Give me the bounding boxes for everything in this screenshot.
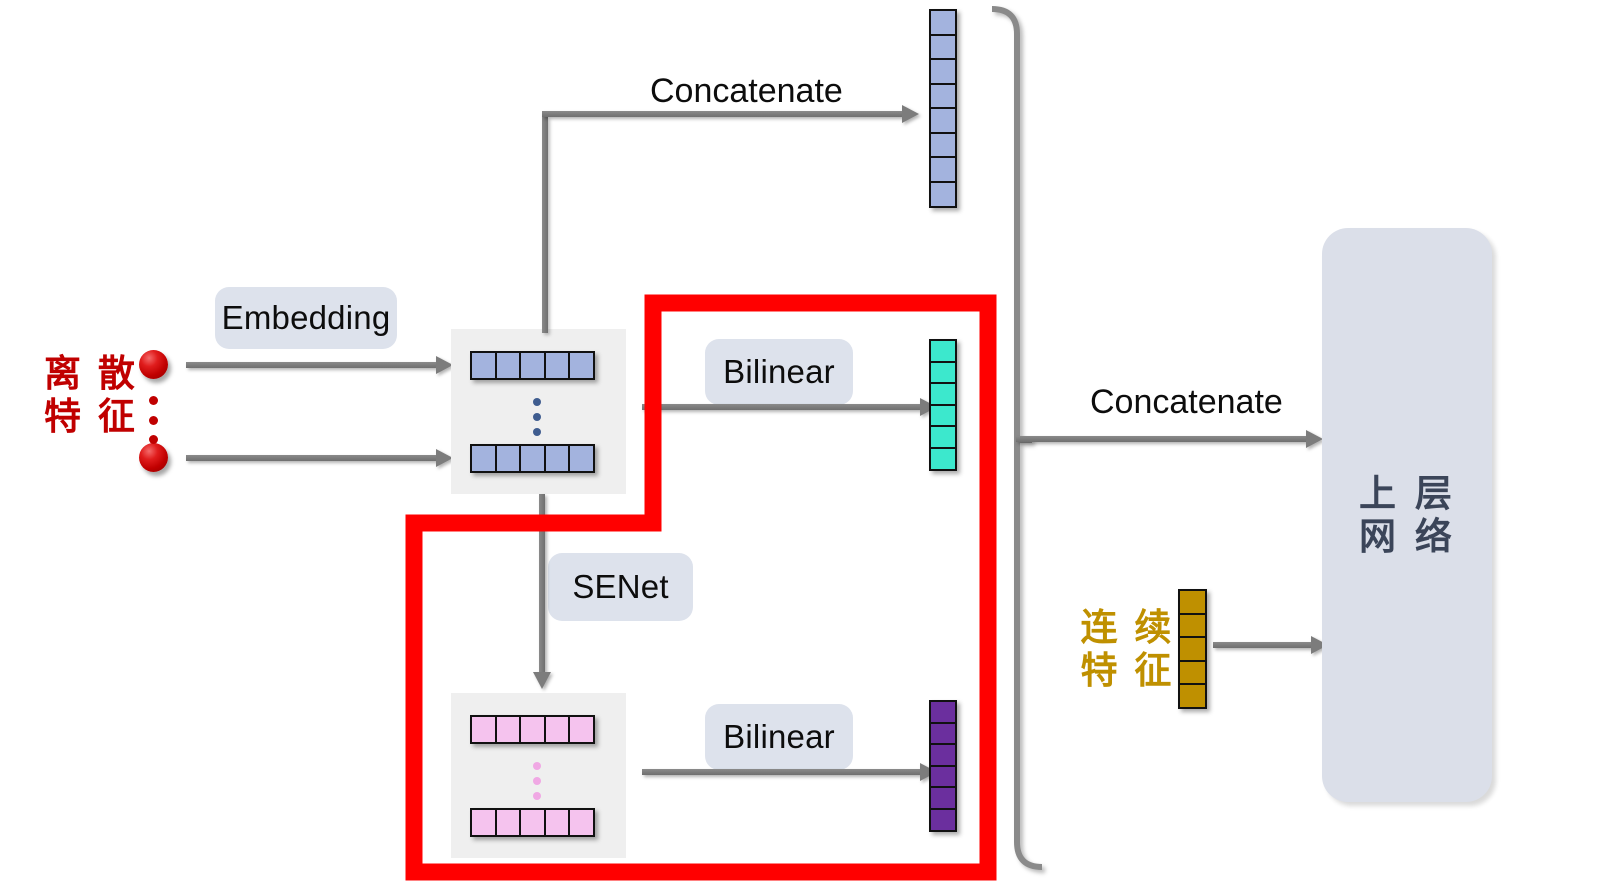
arrow-embedding-to-senet bbox=[531, 494, 557, 690]
bilinear-top-cell bbox=[929, 382, 957, 406]
bilinear-top-label-text: Bilinear bbox=[723, 353, 835, 391]
embedding-cell bbox=[495, 444, 522, 473]
bilinear-bottom-label-text: Bilinear bbox=[723, 718, 835, 756]
concat-top-cell bbox=[929, 58, 957, 85]
arrow-senet-to-bilinear-bottom bbox=[642, 763, 937, 781]
senet-cell bbox=[544, 808, 571, 837]
embedding-cell bbox=[544, 444, 571, 473]
senet-label-chip: SENet bbox=[548, 553, 693, 621]
embedding-cell bbox=[568, 351, 595, 380]
senet-cell bbox=[495, 715, 522, 744]
embedding-cell bbox=[470, 444, 497, 473]
dense-cell bbox=[1178, 660, 1207, 686]
concat-top-cell bbox=[929, 9, 957, 36]
senet-row-top bbox=[470, 715, 595, 744]
bilinear-bottom-vector bbox=[929, 700, 957, 832]
discrete-feature-label: 离 散 特 征 bbox=[38, 352, 143, 437]
senet-cell bbox=[519, 808, 546, 837]
embedding-label-text: Embedding bbox=[222, 299, 391, 337]
bilinear-bottom-cell bbox=[929, 765, 957, 789]
concat-top-vector bbox=[929, 9, 957, 208]
arrow-input-to-embedding-top bbox=[186, 356, 454, 374]
concat-top-cell bbox=[929, 107, 957, 134]
dense-cell bbox=[1178, 613, 1207, 639]
senet-cell bbox=[568, 808, 595, 837]
bilinear-top-vector bbox=[929, 339, 957, 471]
concat-top-cell bbox=[929, 132, 957, 159]
bilinear-bottom-cell bbox=[929, 743, 957, 767]
embedding-row-bottom bbox=[470, 444, 595, 473]
discrete-feature-ellipsis bbox=[146, 396, 161, 444]
senet-cell bbox=[495, 808, 522, 837]
concat-top-cell bbox=[929, 181, 957, 208]
arrow-dense-to-network bbox=[1213, 636, 1333, 654]
senet-cell bbox=[544, 715, 571, 744]
bilinear-top-cell bbox=[929, 425, 957, 449]
arrow-input-to-embedding-bottom bbox=[186, 449, 454, 467]
bilinear-top-cell bbox=[929, 404, 957, 428]
senet-cell bbox=[568, 715, 595, 744]
concat-top-cell bbox=[929, 83, 957, 110]
bilinear-bottom-cell bbox=[929, 786, 957, 810]
senet-cell bbox=[519, 715, 546, 744]
arrow-embedding-to-bilinear-top bbox=[642, 398, 937, 416]
embedding-cell bbox=[544, 351, 571, 380]
bilinear-top-cell bbox=[929, 361, 957, 385]
embedding-cell bbox=[495, 351, 522, 380]
senet-row-bottom bbox=[470, 808, 595, 837]
embedding-cell bbox=[519, 444, 546, 473]
dense-cell bbox=[1178, 589, 1207, 615]
dense-feature-vector bbox=[1178, 589, 1207, 709]
dense-cell bbox=[1178, 683, 1207, 709]
concatenate-right-label: Concatenate bbox=[1090, 383, 1283, 422]
embedding-row-top bbox=[470, 351, 595, 380]
senet-label-text: SENet bbox=[572, 568, 668, 606]
dense-cell bbox=[1178, 636, 1207, 662]
senet-cell bbox=[470, 808, 497, 837]
arrow-concatenate-to-network bbox=[1016, 430, 1326, 448]
embedding-cell bbox=[568, 444, 595, 473]
embedding-ellipsis bbox=[531, 398, 543, 436]
embedding-cell bbox=[470, 351, 497, 380]
bilinear-bottom-cell bbox=[929, 808, 957, 832]
concat-top-cell bbox=[929, 34, 957, 61]
discrete-feature-node-bottom bbox=[139, 443, 168, 472]
diagram-canvas: 离 散 特 征 Embedding bbox=[0, 0, 1597, 892]
bilinear-bottom-cell bbox=[929, 722, 957, 746]
concatenate-top-label: Concatenate bbox=[650, 72, 843, 111]
embedding-cell bbox=[519, 351, 546, 380]
continuous-feature-label: 连 续 特 征 bbox=[1072, 606, 1182, 691]
arrow-concatenate-top bbox=[542, 111, 922, 129]
bilinear-top-label-chip: Bilinear bbox=[705, 339, 853, 405]
senet-ellipsis bbox=[531, 762, 543, 800]
embedding-label-chip: Embedding bbox=[215, 287, 397, 349]
upper-network-label: 上 层 网 络 bbox=[1359, 472, 1455, 557]
bilinear-bottom-cell bbox=[929, 700, 957, 724]
connector-embedding-up bbox=[542, 117, 548, 333]
bilinear-bottom-label-chip: Bilinear bbox=[705, 704, 853, 770]
bilinear-top-cell bbox=[929, 447, 957, 471]
concat-top-cell bbox=[929, 156, 957, 183]
discrete-feature-node-top bbox=[139, 350, 168, 379]
bilinear-top-cell bbox=[929, 339, 957, 363]
senet-cell bbox=[470, 715, 497, 744]
upper-network-box: 上 层 网 络 bbox=[1322, 228, 1492, 802]
